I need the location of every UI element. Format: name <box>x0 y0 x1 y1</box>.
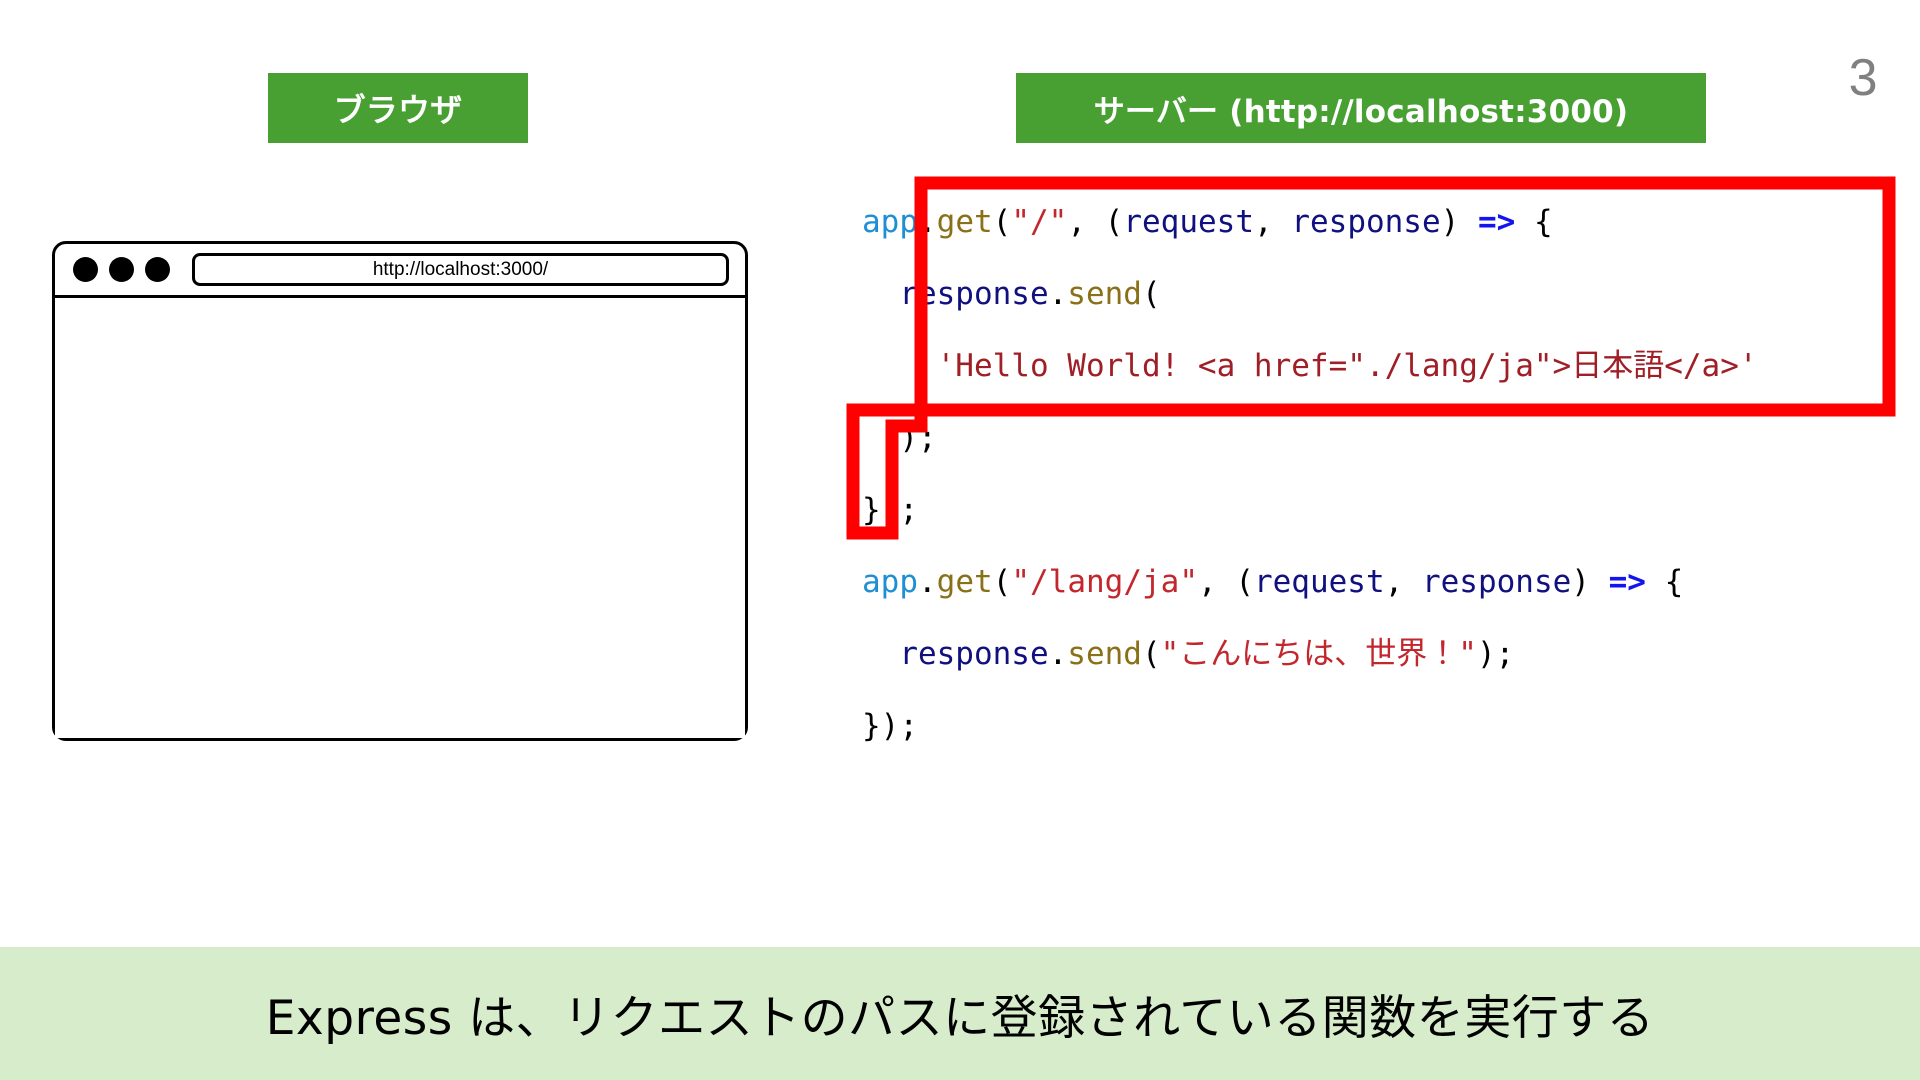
code-token: , <box>1385 564 1422 600</box>
code-token: . <box>918 564 937 600</box>
summary-banner: Express は、リクエストのパスに登録されている関数を実行する <box>0 947 1920 1080</box>
code-token: app <box>862 204 918 240</box>
code-token: . <box>1049 276 1068 312</box>
code-token: send <box>1067 276 1142 312</box>
code-token: response <box>1422 564 1571 600</box>
code-token: => <box>1609 564 1646 600</box>
code-token: . <box>1049 636 1068 672</box>
code-token: ) <box>1571 564 1590 600</box>
close-dot-icon[interactable] <box>73 257 98 282</box>
code-token <box>1459 204 1478 240</box>
code-token: ( <box>1105 204 1124 240</box>
code-token: ( <box>1235 564 1254 600</box>
code-line: response.send("こんにちは、世界！"); <box>862 618 1758 690</box>
browser-section-tag: ブラウザ <box>268 73 528 143</box>
code-line: }); <box>862 690 1758 762</box>
code-token: }); <box>862 492 918 528</box>
code-token: send <box>1067 636 1142 672</box>
code-token: ( <box>1142 636 1161 672</box>
code-token: get <box>937 204 993 240</box>
code-line: }); <box>862 474 1758 546</box>
window-control-dots <box>73 257 170 282</box>
code-line: response.send( <box>862 258 1758 330</box>
browser-window-mockup: http://localhost:3000/ <box>52 241 748 741</box>
code-block: app.get("/", (request, response) => {res… <box>862 186 1758 762</box>
code-token: . <box>918 204 937 240</box>
code-token: 'Hello World! <a href="./lang/ja">日本語</a… <box>937 348 1758 384</box>
code-token <box>1590 564 1609 600</box>
code-token: { <box>1646 564 1683 600</box>
code-token: { <box>1515 204 1552 240</box>
page-number: 3 <box>1849 52 1878 104</box>
code-token: ( <box>993 564 1012 600</box>
browser-viewport <box>55 298 745 738</box>
address-bar-input[interactable]: http://localhost:3000/ <box>192 253 729 286</box>
code-token: => <box>1478 204 1515 240</box>
code-token: "/lang/ja" <box>1011 564 1198 600</box>
code-token: get <box>937 564 993 600</box>
code-token: ) <box>1441 204 1460 240</box>
code-token: ); <box>899 420 936 456</box>
code-token: , <box>1067 204 1104 240</box>
maximize-dot-icon[interactable] <box>145 257 170 282</box>
code-token: "/" <box>1011 204 1067 240</box>
code-token: request <box>1123 204 1254 240</box>
summary-banner-text: Express は、リクエストのパスに登録されている関数を実行する <box>266 979 1655 1048</box>
code-token: request <box>1254 564 1385 600</box>
code-token: response <box>899 636 1048 672</box>
code-token: "こんにちは、世界！" <box>1161 636 1477 672</box>
code-token: , <box>1254 204 1291 240</box>
code-line: app.get("/", (request, response) => { <box>862 186 1758 258</box>
code-line: ); <box>862 402 1758 474</box>
code-line: app.get("/lang/ja", (request, response) … <box>862 546 1758 618</box>
server-section-tag: サーバー (http://localhost:3000) <box>1016 73 1706 143</box>
code-token: ( <box>993 204 1012 240</box>
code-token: ); <box>1477 636 1514 672</box>
code-token: response <box>899 276 1048 312</box>
code-token: ( <box>1142 276 1161 312</box>
browser-chrome-bar: http://localhost:3000/ <box>55 244 745 298</box>
code-token: }); <box>862 708 918 744</box>
code-line: 'Hello World! <a href="./lang/ja">日本語</a… <box>862 330 1758 402</box>
code-token: , <box>1198 564 1235 600</box>
minimize-dot-icon[interactable] <box>109 257 134 282</box>
code-token: response <box>1291 204 1440 240</box>
code-token: app <box>862 564 918 600</box>
